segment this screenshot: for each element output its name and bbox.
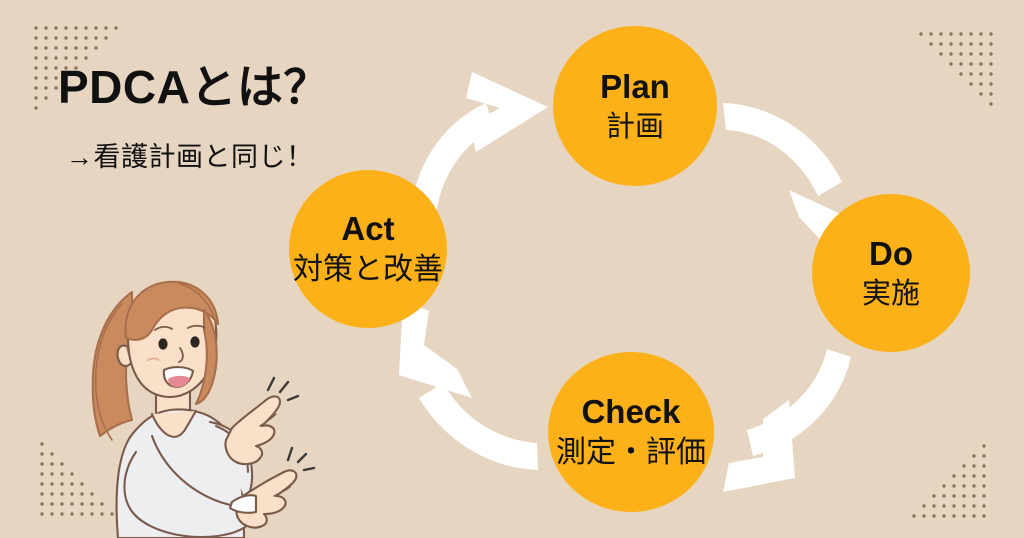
pdca-infographic: PDCAとは？ →看護計画と同じ！ Plan 計画 (0, 0, 1024, 538)
cycle-node-act-en: Act (341, 210, 394, 248)
cycle-node-plan-en: Plan (600, 68, 670, 106)
cycle-node-plan[interactable]: Plan 計画 (553, 26, 717, 186)
cycle-node-plan-jp: 計画 (606, 110, 664, 145)
cycle-node-check-en: Check (581, 393, 680, 431)
cycle-node-do[interactable]: Do 実施 (812, 194, 970, 352)
cycle-node-check-jp: 測定・評価 (556, 435, 706, 471)
woman-pointing-illustration (60, 250, 320, 538)
cycle-node-do-en: Do (869, 235, 913, 273)
cycle-node-do-jp: 実施 (862, 277, 920, 312)
cycle-node-check[interactable]: Check 測定・評価 (548, 352, 714, 512)
